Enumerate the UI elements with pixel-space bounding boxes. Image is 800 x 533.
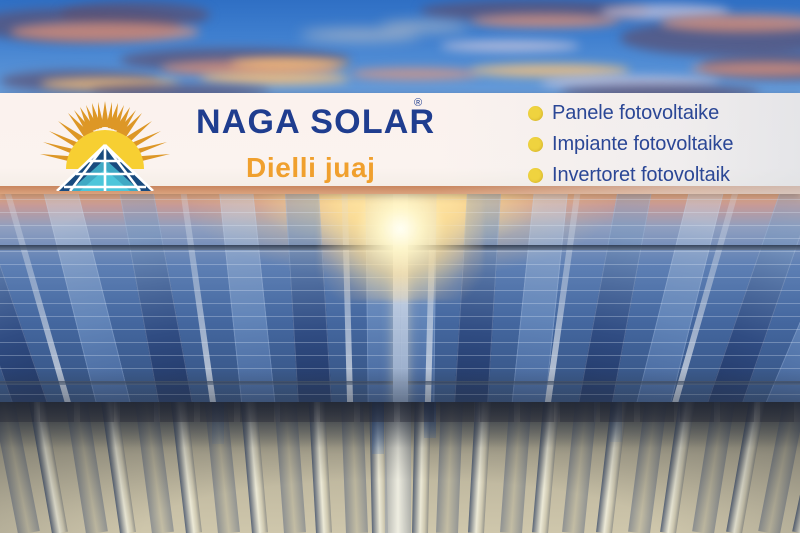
bullet-dot-icon xyxy=(528,137,543,152)
bullet-dot-icon xyxy=(528,168,543,183)
naga-solar-logo xyxy=(18,97,193,191)
service-label: Invertoret fotovoltaik xyxy=(552,164,730,187)
list-item: Impiante fotovoltaike xyxy=(528,129,796,160)
sun-glare xyxy=(318,193,483,301)
brand-tagline: Dielli juaj xyxy=(246,152,376,184)
brand-name: NAGA SOLAR xyxy=(196,100,426,144)
roof-vignette xyxy=(0,402,800,533)
registered-trademark-icon: ® xyxy=(414,97,422,109)
brand-wordmark: NAGA SOLAR ® xyxy=(196,100,426,146)
service-label: Panele fotovoltaike xyxy=(552,102,719,125)
solar-panel-array xyxy=(0,193,800,408)
bullet-dot-icon xyxy=(528,106,543,121)
corrugated-metal-roof xyxy=(0,402,800,533)
list-item: Panele fotovoltaike xyxy=(528,98,796,129)
logo-icon xyxy=(18,97,193,191)
service-label: Impiante fotovoltaike xyxy=(552,133,733,156)
services-list: Panele fotovoltaike Impiante fotovoltaik… xyxy=(528,98,796,191)
list-item: Invertoret fotovoltaik xyxy=(528,160,796,191)
promotional-banner-image: NAGA SOLAR ® Dielli juaj Panele fotovolt… xyxy=(0,0,800,533)
